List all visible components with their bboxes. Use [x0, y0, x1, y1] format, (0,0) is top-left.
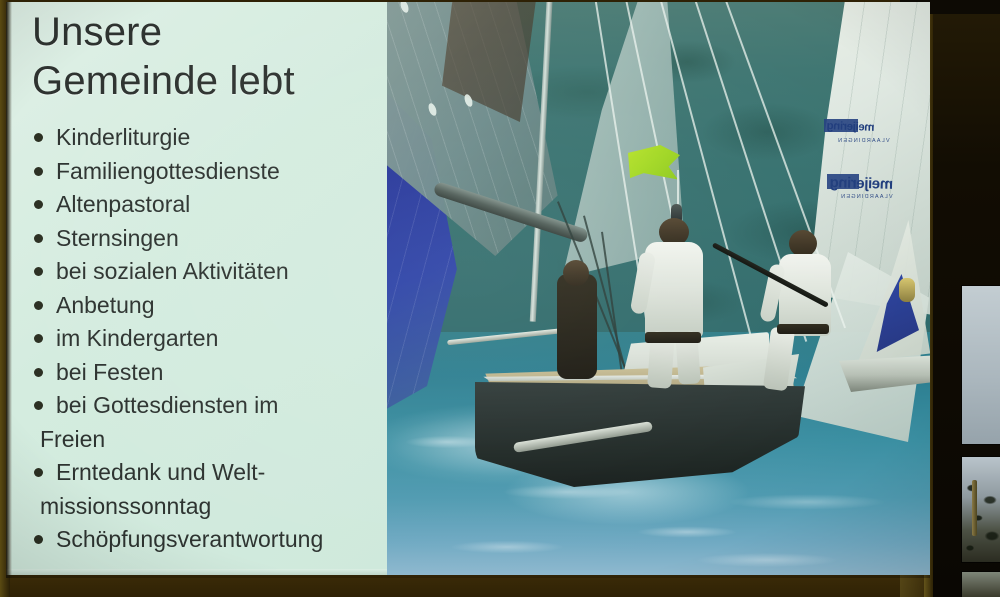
bullet-dot-icon: [34, 368, 43, 377]
window-pane-upper: [962, 286, 1000, 444]
sail-logo-lower: meijering: [830, 174, 894, 193]
bullet-dot-icon: [34, 334, 43, 343]
projected-slide: Unsere Gemeinde lebt KinderliturgieFamil…: [6, 2, 930, 578]
slide-photo: meijering VLAARDINGEN meijering VLAARDIN…: [387, 2, 930, 575]
window-pane-lower: [962, 572, 1000, 597]
slide-bullet-item: missionssonntag: [30, 490, 386, 524]
slide-bullet-item: Schöpfungsverantwortung: [30, 523, 386, 557]
slide-bullet-label: Freien: [40, 426, 105, 452]
slide-bullet-label: bei Gottesdiensten im: [56, 392, 278, 418]
slide-bullet-item: Sternsingen: [30, 222, 386, 256]
slide-bullet-label: bei sozialen Aktivitäten: [56, 258, 289, 284]
slide-bullet-label: Schöpfungsverantwortung: [56, 526, 323, 552]
slide-bullet-item: im Kindergarten: [30, 322, 386, 356]
window-handle-icon: [972, 480, 977, 536]
slide-bullet-label: im Kindergarten: [56, 325, 218, 351]
slide-bullet-item: Kinderliturgie: [30, 121, 386, 155]
slide-bullet-label: missionssonntag: [40, 493, 211, 519]
slide-title-line-2: Gemeinde lebt: [32, 57, 382, 106]
slide-bullet-label: Familiengottesdienste: [56, 158, 280, 184]
bullet-dot-icon: [34, 234, 43, 243]
slide-left-shadow: [6, 2, 12, 578]
bullet-dot-icon: [34, 535, 43, 544]
slide-bullet-item: Anbetung: [30, 289, 386, 323]
bullet-dot-icon: [34, 468, 43, 477]
bullet-dot-icon: [34, 133, 43, 142]
slide-bullet-item: bei sozialen Aktivitäten: [30, 255, 386, 289]
slide-title: Unsere Gemeinde lebt: [32, 8, 382, 106]
slide-bullet-item: bei Festen: [30, 356, 386, 390]
slide-bullet-label: Altenpastoral: [56, 191, 190, 217]
slide-bullet-item: Altenpastoral: [30, 188, 386, 222]
slide-bullet-item: Freien: [30, 423, 386, 457]
panel-bottom-edge: [6, 569, 387, 575]
photo-flag-halyard: [677, 170, 679, 206]
sail-logo-upper-sub: VLAARDINGEN: [837, 138, 890, 144]
photo-distant-boat-crew: [899, 278, 915, 302]
slide-bullet-label: bei Festen: [56, 359, 163, 385]
slide-bullet-item: Familiengottesdienste: [30, 155, 386, 189]
window-foliage: [962, 470, 1000, 565]
bullet-dot-icon: [34, 401, 43, 410]
bullet-dot-icon: [34, 301, 43, 310]
projection-scene: Unsere Gemeinde lebt KinderliturgieFamil…: [0, 0, 1000, 597]
slide-bullet-list: KinderliturgieFamiliengottesdiensteAlten…: [30, 121, 386, 557]
slide-bullet-label: Erntedank und Welt-: [56, 459, 265, 485]
slide-bullet-label: Sternsingen: [56, 225, 179, 251]
slide-bullet-label: Kinderliturgie: [56, 124, 190, 150]
bullet-dot-icon: [34, 200, 43, 209]
sail-logo-lower-sub: VLAARDINGEN: [840, 194, 893, 200]
slide-bullet-item: Erntedank und Welt-: [30, 456, 386, 490]
slide-bullet-label: Anbetung: [56, 292, 154, 318]
sail-logo-upper: meijering: [827, 120, 875, 134]
slide-text-panel: Unsere Gemeinde lebt KinderliturgieFamil…: [6, 2, 387, 575]
bullet-dot-icon: [34, 167, 43, 176]
slide-title-line-1: Unsere: [32, 8, 382, 57]
bullet-dot-icon: [34, 267, 43, 276]
slide-bullet-item: bei Gottesdiensten im: [30, 389, 386, 423]
